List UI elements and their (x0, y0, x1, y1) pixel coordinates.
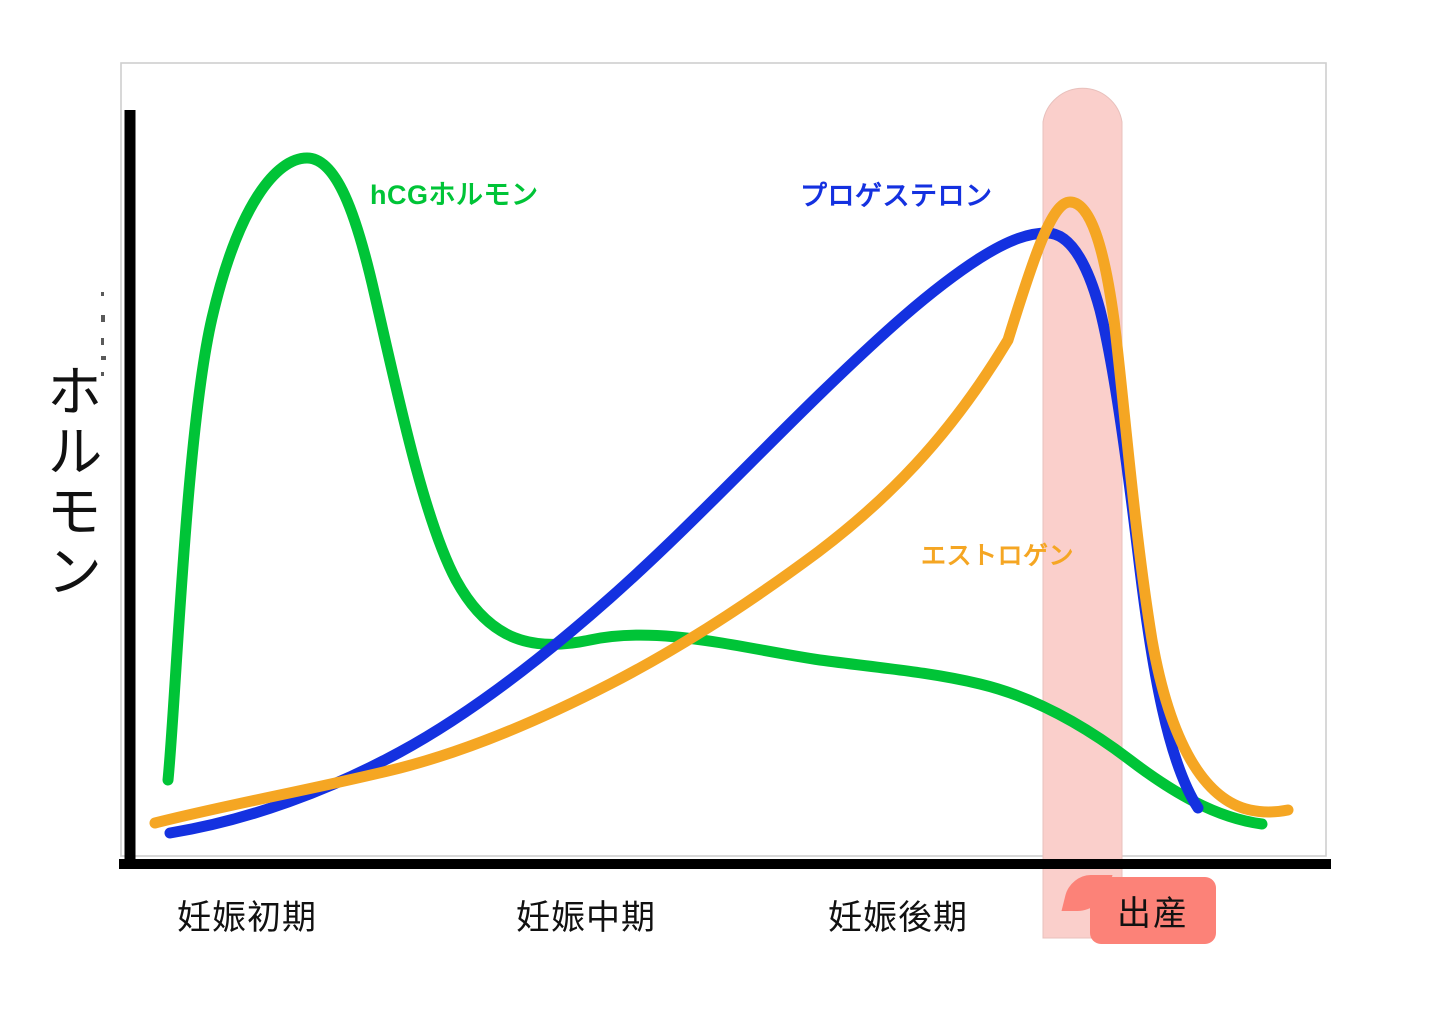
x-tick-label-first-trimester: 妊娠初期 (177, 890, 317, 939)
plot-area-border (121, 63, 1326, 856)
y-axis-title: ホルモン (48, 362, 110, 602)
hormone-levels-chart: hCGホルモン プロゲステロン エストロゲン ホルモン 妊娠初期 妊娠中期 妊娠… (0, 0, 1440, 1018)
birth-badge-label: 出産 (1090, 877, 1216, 944)
series-label-hcg: hCGホルモン (370, 182, 539, 209)
chart-canvas (0, 0, 1440, 1018)
series-label-progesterone: プロゲステロン (800, 183, 993, 210)
x-tick-label-third-trimester: 妊娠後期 (828, 890, 968, 939)
x-tick-label-second-trimester: 妊娠中期 (516, 890, 656, 939)
series-label-estrogen: エストロゲン (921, 544, 1074, 569)
birth-badge: 出産 (1090, 877, 1216, 944)
